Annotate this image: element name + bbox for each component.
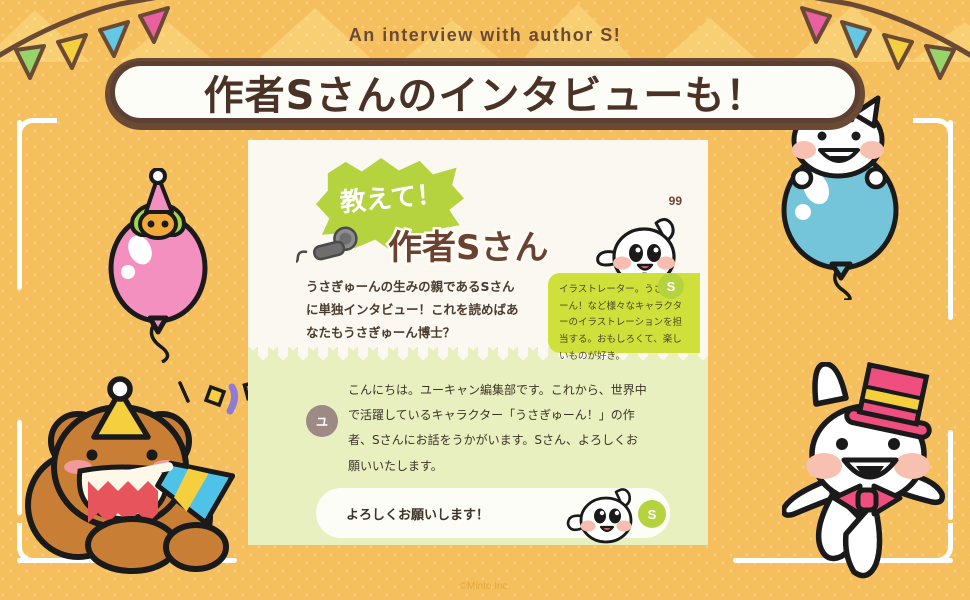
interview-card: 教えて！ 作者Sさん 99 S イラストレーター。うさぎゅーん！など様々なキ	[248, 140, 708, 545]
tophat-rabbit-icon	[782, 362, 952, 592]
page-number: 99	[669, 194, 682, 208]
answer-text: よろしくお願いします！	[346, 504, 489, 523]
author-s-badge: S	[658, 273, 684, 299]
page-root: An interview with author S! 作者Sさんのインタビュー…	[0, 0, 970, 600]
author-name-title: 作者Sさん	[388, 220, 549, 269]
answer-s-badge: S	[638, 500, 666, 528]
page-title: 作者Sさんのインタビューも！	[204, 63, 767, 121]
footer-copyright: ©Minto Inc.	[0, 581, 970, 592]
page-subtitle: An interview with author S!	[0, 25, 970, 46]
usagyuun-character-small-icon	[566, 488, 644, 544]
frame-corner-tl	[17, 118, 57, 158]
lead-paragraph: うさぎゅーんの生みの親であるSさんに単独インタビュー！これを読めばあなたもうさぎ…	[306, 275, 524, 344]
interviewer-badge: ユ	[306, 405, 338, 437]
frog-on-pink-balloon-icon	[100, 168, 220, 363]
microphone-icon	[296, 218, 360, 278]
frame-corner-tr	[913, 118, 953, 158]
party-bear-icon	[20, 375, 235, 580]
title-banner: 作者Sさんのインタビューも！	[110, 61, 860, 123]
interviewer-question: こんにちは。ユーキャン編集部です。これから、世界中で活躍しているキャラクター「う…	[348, 378, 648, 479]
